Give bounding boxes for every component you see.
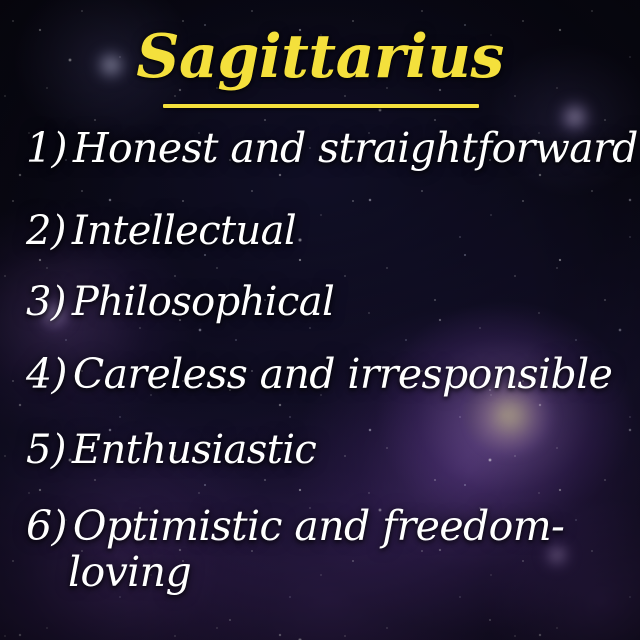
list-item-number: 6) xyxy=(26,502,67,550)
list-item: 4)Careless and irresponsible xyxy=(26,352,624,396)
list-item: 5)Enthusiastic xyxy=(26,429,624,472)
list-item: 3)Philosophical xyxy=(26,281,624,324)
list-item: 6)Optimistic and freedom- loving xyxy=(26,504,624,595)
list-item-text: Intellectual xyxy=(72,208,296,254)
list-item-number: 3) xyxy=(26,279,66,325)
list-item-number: 5) xyxy=(26,427,66,473)
list-item-number: 2) xyxy=(26,208,66,254)
title-underline xyxy=(163,104,479,108)
sagittarius-traits-poster: Sagittarius 1)Honest and straightforward… xyxy=(0,0,640,640)
list-item-number: 1) xyxy=(26,124,67,172)
list-item-text: Careless and irresponsible xyxy=(73,350,612,398)
list-item-text: Optimistic and freedom- xyxy=(73,502,564,550)
poster-content: Sagittarius 1)Honest and straightforward… xyxy=(0,0,640,640)
page-title: Sagittarius xyxy=(0,26,640,89)
list-item: 1)Honest and straightforward xyxy=(26,126,624,170)
list-item: 2)Intellectual xyxy=(26,210,624,253)
list-item-number: 4) xyxy=(26,350,67,398)
list-item-text: Enthusiastic xyxy=(72,427,316,473)
list-item-text: Honest and straightforward xyxy=(73,124,638,172)
list-item-text-continued: loving xyxy=(68,550,624,594)
list-item-text: Philosophical xyxy=(72,279,334,325)
